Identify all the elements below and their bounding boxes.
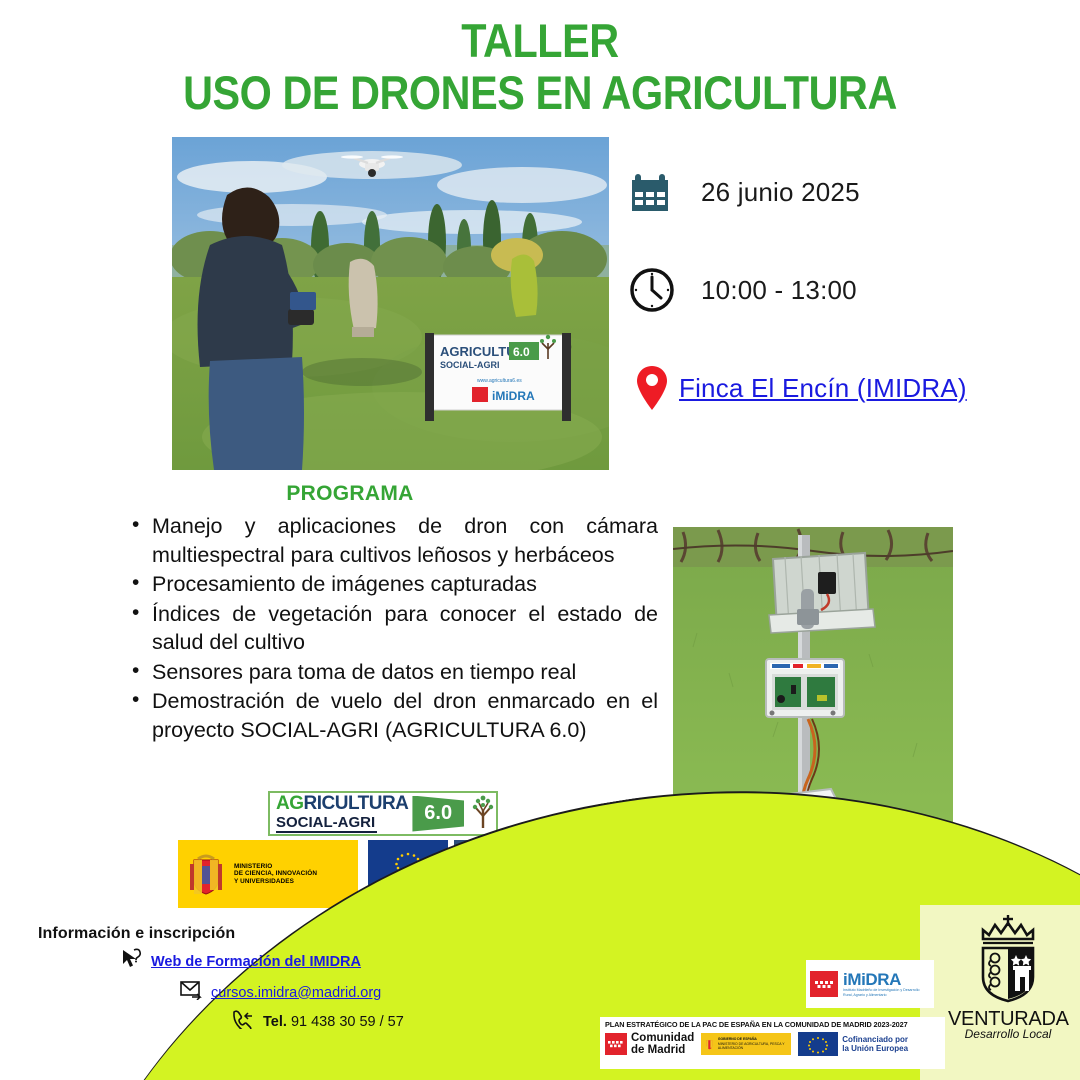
programa-item: Procesamiento de imágenes capturadas (128, 570, 658, 599)
comunidad-madrid-text: Comunidad de Madrid (631, 1032, 694, 1056)
calendar-icon (625, 165, 679, 219)
cofinanciado-ue-logo: Cofinanciado por la Unión Europea (798, 1032, 908, 1056)
venturada-coat-of-arms-icon (969, 913, 1047, 1005)
contact-row-phone: Tel. 91 438 30 59 / 57 (230, 1009, 518, 1034)
gobierno-espana-logo: GOBIERNO DE ESPAÑA MINISTERIO DE AGRICUL… (701, 1033, 791, 1055)
location-pin-icon (625, 361, 679, 415)
programa-item: Índices de vegetación para conocer el es… (128, 600, 658, 657)
contact-row-web[interactable]: Web de Formación del IMIDRA (120, 947, 518, 976)
event-location-link[interactable]: Finca El Encín (IMIDRA) (679, 373, 967, 404)
event-time: 10:00 - 13:00 (701, 275, 857, 306)
agricultura-60-logo: AGRICULTURA SOCIAL-AGRI 6.0 (268, 791, 498, 836)
imidra-name: iMiDRA (843, 971, 930, 988)
svg-text:6.0: 6.0 (513, 345, 530, 359)
comunidad-madrid-logo: Comunidad de Madrid (605, 1032, 694, 1056)
comunidad-line-1: Comunidad (631, 1032, 694, 1044)
svg-text:www.agricultura6.es: www.agricultura6.es (477, 378, 522, 384)
eu-flag-icon-2 (798, 1032, 838, 1056)
title-line-1: TALLER (65, 16, 1015, 65)
imidra-logo: iMiDRA Instituto Madrileño de Investigac… (806, 960, 934, 1008)
agri-logo-text: AGRICULTURA SOCIAL-AGRI (270, 794, 408, 833)
drone-field-photo: AGRICULTURA 6.0 SOCIAL-AGRI www.agricult… (172, 137, 609, 470)
cofinanciado-line-2: la Unión Europea (842, 1044, 908, 1054)
programa-list: Manejo y aplicaciones de dron con cámara… (128, 512, 658, 745)
email-link[interactable]: cursos.imidra@madrid.org (211, 985, 381, 1001)
escudo-espana-icon-small (704, 1036, 715, 1052)
web-formacion-link[interactable]: Web de Formación del IMIDRA (151, 954, 361, 970)
clock-icon (625, 263, 679, 317)
phone-icon (230, 1009, 256, 1034)
contact-heading: Información e inscripción (38, 925, 518, 943)
escudo-espana-icon (184, 850, 228, 898)
poster-root: TALLER USO DE DRONES EN AGRICULTURA (0, 0, 1080, 1080)
agri-prefix: AG (276, 793, 304, 814)
agri-logo-title: AGRICULTURA (276, 794, 408, 814)
imidra-subtitle: Instituto Madrileño de Investigación y D… (843, 988, 930, 997)
event-details-list: 26 junio 2025 10:00 - 13:00 (625, 165, 1055, 459)
imidra-text: iMiDRA Instituto Madrileño de Investigac… (843, 971, 930, 997)
agri-suffix: RICULTURA (304, 793, 409, 814)
cofinanciado-text: Cofinanciado por la Unión Europea (842, 1035, 908, 1054)
gobierno-text: GOBIERNO DE ESPAÑA MINISTERIO DE AGRICUL… (718, 1037, 788, 1050)
pac-title: PLAN ESTRATÉGICO DE LA PAC DE ESPAÑA EN … (605, 1020, 940, 1029)
ministerio-text: MINISTERIO DE CIENCIA, INNOVACIÓN Y UNIV… (234, 863, 317, 886)
contact-row-email[interactable]: cursos.imidra@madrid.org (180, 980, 518, 1005)
gobierno-line-2: MINISTERIO DE AGRICULTURA, PESCA Y ALIME… (718, 1042, 788, 1051)
cofinanciado-line-1: Cofinanciado por (842, 1035, 908, 1045)
comunidad-madrid-flag-icon (810, 971, 838, 997)
detail-row-location[interactable]: Finca El Encín (IMIDRA) (625, 361, 1055, 415)
ministerio-line-2: DE CIENCIA, INNOVACIÓN (234, 870, 317, 878)
event-date: 26 junio 2025 (701, 177, 860, 208)
programa-item: Demostración de vuelo del dron enmarcado… (128, 687, 658, 744)
title-line-2: USO DE DRONES EN AGRICULTURA (65, 65, 1015, 121)
tel-number: 91 438 30 59 / 57 (291, 1014, 404, 1030)
pac-logos: Comunidad de Madrid GOBIERNO DE ESPAÑA M… (605, 1032, 940, 1056)
pac-strip: PLAN ESTRATÉGICO DE LA PAC DE ESPAÑA EN … (600, 1017, 945, 1069)
ministerio-line-3: Y UNIVERSIDADES (234, 878, 317, 886)
cursor-help-icon (120, 947, 144, 976)
programa-item: Manejo y aplicaciones de dron con cámara… (128, 512, 658, 569)
comunidad-line-2: de Madrid (631, 1044, 694, 1056)
tree-icon (470, 794, 496, 833)
phone-number: Tel. 91 438 30 59 / 57 (263, 1014, 404, 1030)
programa-item: Sensores para toma de datos en tiempo re… (128, 658, 658, 687)
agri-badge-60: 6.0 (412, 796, 464, 832)
detail-row-time: 10:00 - 13:00 (625, 263, 1055, 317)
ministerio-logo: MINISTERIO DE CIENCIA, INNOVACIÓN Y UNIV… (178, 840, 358, 908)
svg-text:iMiDRA: iMiDRA (492, 389, 535, 403)
venturada-subtitle: Desarrollo Local (948, 1027, 1068, 1041)
tel-prefix: Tel. (263, 1014, 287, 1030)
contact-block: Información e inscripción Web de Formaci… (38, 925, 518, 1034)
page-title: TALLER USO DE DRONES EN AGRICULTURA (0, 16, 1080, 122)
venturada-logo: VENTURADA Desarrollo Local (948, 913, 1068, 1041)
comunidad-madrid-flag-icon-2 (605, 1033, 627, 1055)
email-icon (180, 980, 204, 1005)
svg-text:SOCIAL-AGRI: SOCIAL-AGRI (440, 360, 500, 370)
agri-logo-subtitle: SOCIAL-AGRI (276, 814, 377, 833)
detail-row-date: 26 junio 2025 (625, 165, 1055, 219)
programa-heading: PROGRAMA (0, 482, 700, 506)
